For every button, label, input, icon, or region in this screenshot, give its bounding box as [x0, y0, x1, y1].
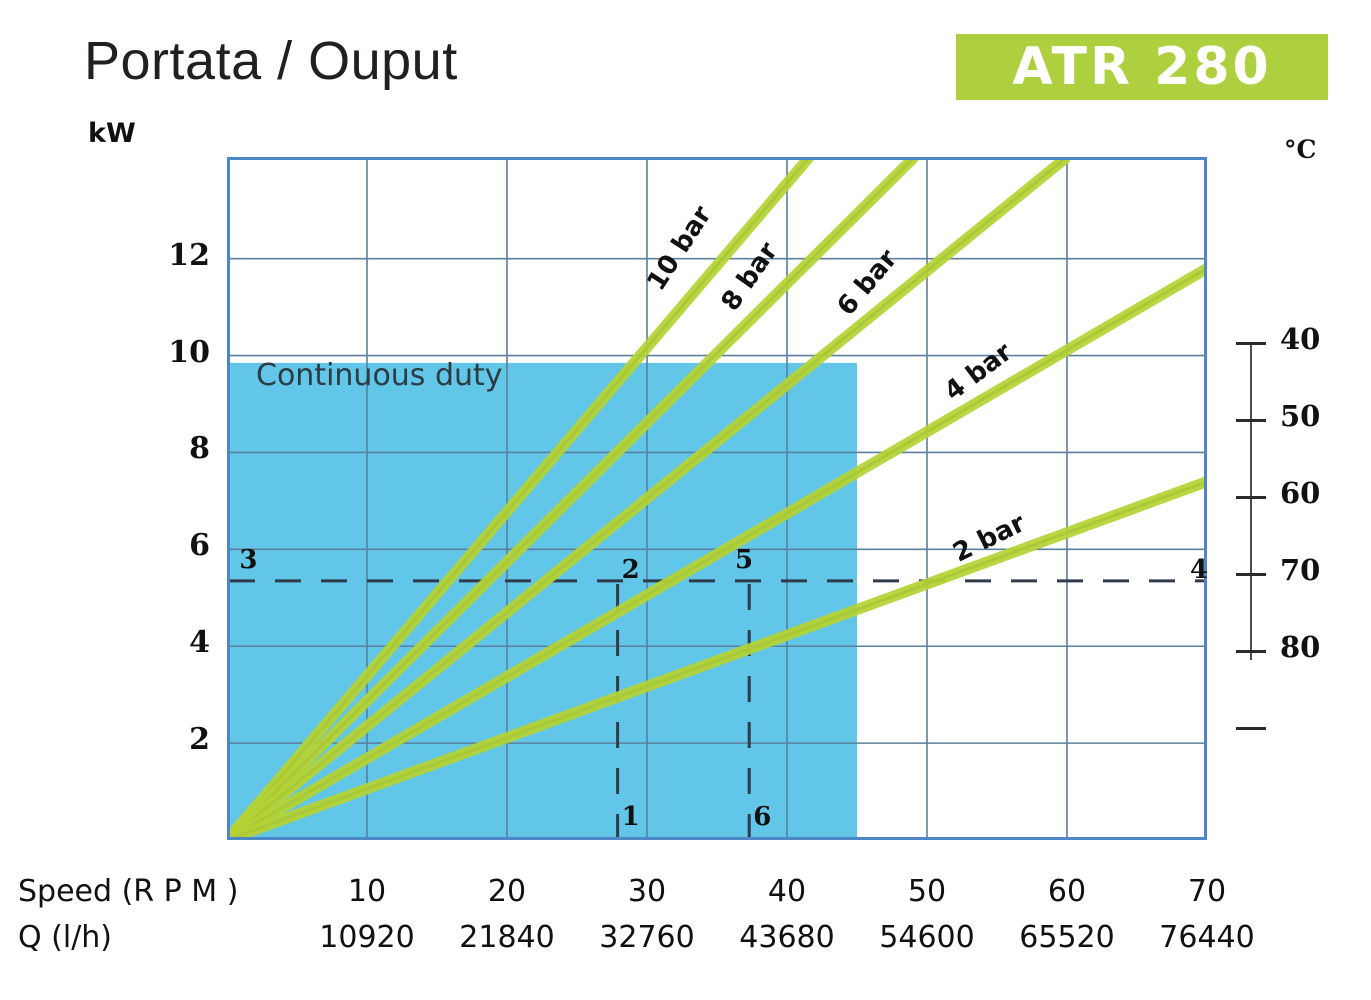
speed-row-caption: Speed (R P M )	[18, 874, 238, 909]
temp-tick-60	[1236, 496, 1266, 499]
flow-value-60: 65520	[1019, 920, 1114, 955]
temp-tick-70	[1236, 573, 1266, 576]
temp-label-60: 60	[1280, 476, 1320, 510]
speed-value-40: 40	[768, 874, 806, 909]
temperature-axis: 4050607080	[1232, 330, 1352, 670]
speed-value-60: 60	[1048, 874, 1086, 909]
model-badge-label: ATR 280	[1012, 37, 1271, 97]
speed-value-70: 70	[1188, 874, 1226, 909]
y-axis-tick-labels: 24681012	[150, 0, 210, 1000]
flow-value-10: 10920	[319, 920, 414, 955]
temperature-axis-line	[1250, 342, 1252, 660]
temp-tick-40	[1236, 342, 1266, 345]
temp-label-70: 70	[1280, 553, 1320, 587]
flow-value-40: 43680	[739, 920, 834, 955]
point-marker-1: 1	[622, 802, 640, 832]
temp-label-40: 40	[1280, 322, 1320, 356]
chart-canvas	[227, 157, 1207, 840]
flow-value-50: 54600	[879, 920, 974, 955]
y-tick-6: 6	[150, 528, 210, 563]
temp-tick-50	[1236, 419, 1266, 422]
y-tick-2: 2	[150, 722, 210, 757]
y2-axis-unit-label: °C	[1284, 135, 1316, 164]
plot-area: 10 bar8 bar6 bar4 bar2 bar 123456	[227, 157, 1207, 840]
flow-row-caption: Q (l/h)	[18, 920, 112, 955]
point-marker-2: 2	[622, 555, 640, 585]
temp-label-80: 80	[1280, 630, 1320, 664]
temp-label-50: 50	[1280, 399, 1320, 433]
continuous-duty-label: Continuous duty	[256, 358, 503, 393]
point-marker-3: 3	[239, 545, 257, 575]
point-marker-6: 6	[753, 802, 771, 832]
point-marker-4: 4	[1190, 555, 1208, 585]
speed-value-20: 20	[488, 874, 526, 909]
y-tick-4: 4	[150, 625, 210, 660]
y-axis-unit-label: kW	[88, 118, 136, 149]
temp-tick-80	[1236, 650, 1266, 653]
x-axis-table: Speed (R P M ) Q (l/h) 10109202021840303…	[0, 872, 1371, 982]
y-tick-12: 12	[150, 238, 210, 273]
flow-value-70: 76440	[1159, 920, 1254, 955]
speed-value-10: 10	[348, 874, 386, 909]
speed-value-50: 50	[908, 874, 946, 909]
y-tick-10: 10	[150, 335, 210, 370]
flow-value-20: 21840	[459, 920, 554, 955]
speed-value-30: 30	[628, 874, 666, 909]
y-tick-8: 8	[150, 431, 210, 466]
page-title: Portata / Ouput	[84, 30, 458, 92]
model-badge: ATR 280	[956, 34, 1328, 100]
temp-tick-end	[1236, 727, 1266, 730]
point-marker-5: 5	[735, 545, 753, 575]
flow-value-30: 32760	[599, 920, 694, 955]
